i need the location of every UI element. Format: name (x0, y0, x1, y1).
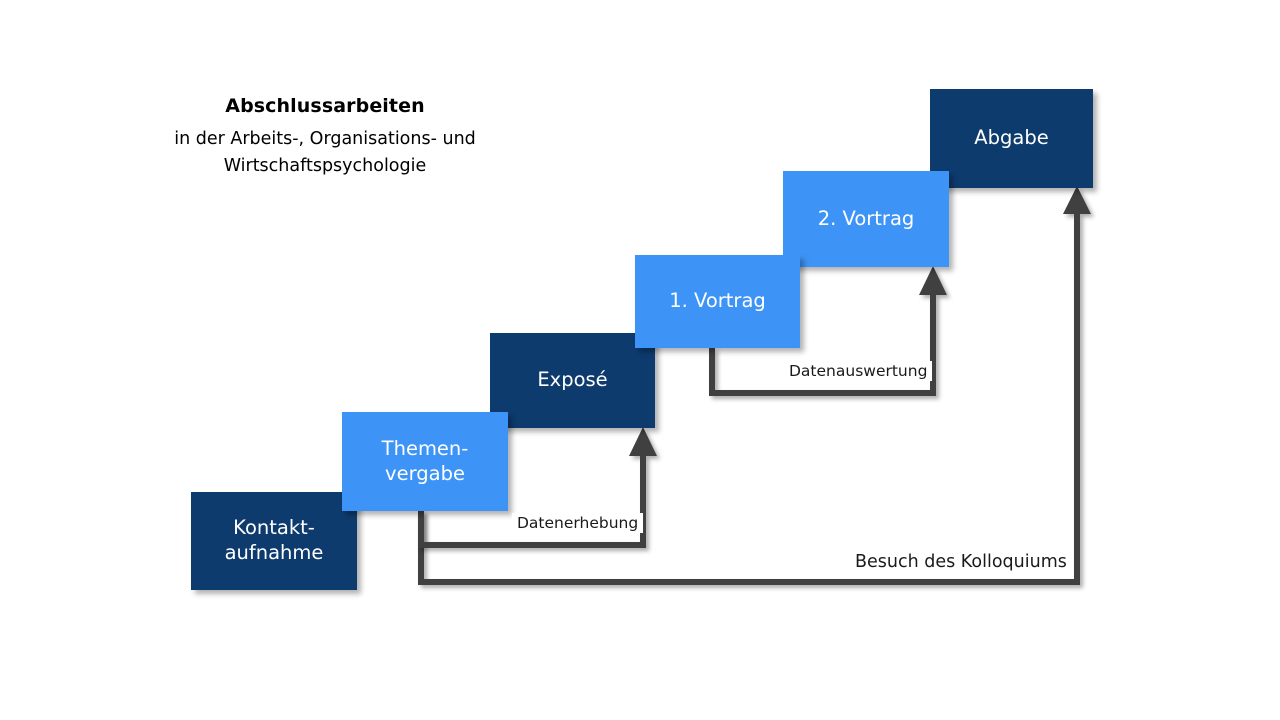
step-box-themenvergabe[interactable]: Themen- vergabe (342, 412, 508, 511)
connector-label-datenerhebung: Datenerhebung (512, 513, 643, 533)
step-label-line1: Kontakt- (233, 516, 315, 539)
step-label-kontaktaufnahme: Kontakt- aufnahme (219, 516, 330, 566)
step-box-vortrag2[interactable]: 2. Vortrag (783, 171, 949, 267)
connector-label-kolloquium: Besuch des Kolloquiums (850, 551, 1072, 573)
connector-label-datenauswertung: Datenauswertung (784, 361, 932, 381)
step-label-themenvergabe: Themen- vergabe (376, 437, 475, 487)
step-label-line2: vergabe (385, 462, 465, 485)
step-label-vortrag1: 1. Vortrag (663, 289, 772, 314)
step-box-kontaktaufnahme[interactable]: Kontakt- aufnahme (191, 492, 357, 590)
step-label-line2: aufnahme (225, 541, 324, 564)
step-box-vortrag1[interactable]: 1. Vortrag (635, 255, 800, 348)
step-box-abgabe[interactable]: Abgabe (930, 89, 1093, 188)
step-label-expose: Exposé (531, 368, 613, 393)
step-label-abgabe: Abgabe (968, 126, 1054, 151)
diagram-canvas: Abschlussarbeiten in der Arbeits-, Organ… (0, 0, 1280, 720)
step-box-expose[interactable]: Exposé (490, 333, 655, 428)
step-label-line1: Themen- (382, 437, 469, 460)
step-label-vortrag2: 2. Vortrag (812, 207, 921, 232)
